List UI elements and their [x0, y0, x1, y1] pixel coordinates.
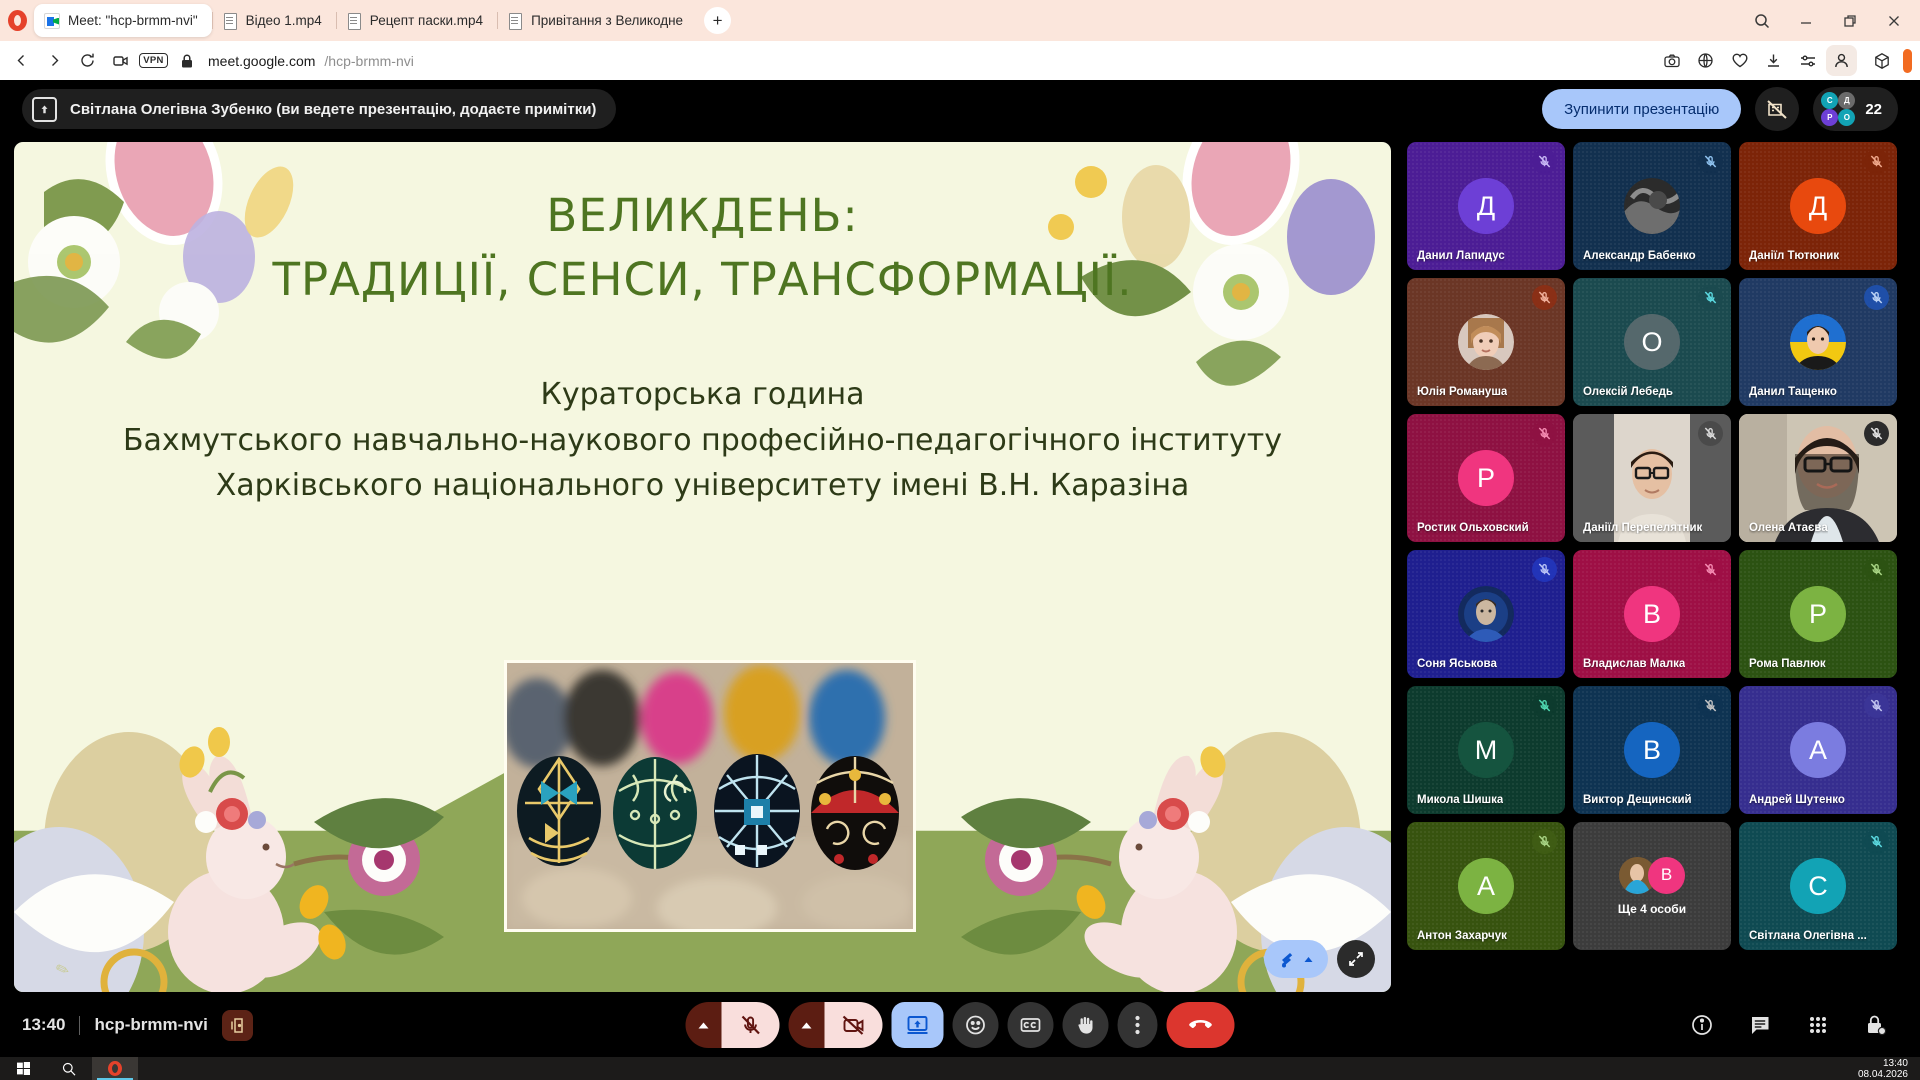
clock-date: 08.04.2026: [1858, 1069, 1908, 1080]
browser-tabstrip: Meet: "hcp-brmm-nvi" Відео 1.mp4 Рецепт …: [0, 0, 1920, 41]
participant-name: Світлана Олегівна ...: [1749, 930, 1867, 942]
camera-control[interactable]: [789, 1002, 883, 1048]
lock-host-icon: [1864, 1013, 1888, 1037]
mic-off-icon: [1532, 557, 1557, 582]
slide-surface: ВЕЛИКДЕНЬ: ТРАДИЦІЇ, СЕНСИ, ТРАНСФОРМАЦІ…: [14, 142, 1391, 992]
mic-off-icon: [1698, 149, 1723, 174]
opera-sidebar: [1860, 45, 1912, 76]
avatar-initial: Р: [1458, 450, 1514, 506]
present-screen-button[interactable]: [892, 1002, 944, 1048]
present-screen-icon: [906, 1013, 930, 1037]
tab-label: Рецепт паски.mp4: [370, 13, 483, 28]
mic-off-icon: [1698, 421, 1723, 446]
participant-name: Соня Яськова: [1417, 658, 1497, 670]
end-call-icon: [1187, 1011, 1215, 1039]
exit-door-icon[interactable]: [222, 1010, 253, 1041]
participant-name: Владислав Малка: [1583, 658, 1685, 670]
avatar-initial: С: [1790, 858, 1846, 914]
mic-off-icon: [740, 1014, 762, 1036]
browser-tab-0[interactable]: Meet: "hcp-brmm-nvi": [34, 4, 212, 37]
annotate-pen-button[interactable]: [1264, 940, 1328, 978]
participant-tile[interactable]: Александр Бабенко: [1573, 142, 1731, 270]
participant-tile[interactable]: Даніїл Перепелятник: [1573, 414, 1731, 542]
avatar-initial: А: [1458, 858, 1514, 914]
participant-name: Виктор Дещинский: [1583, 794, 1692, 806]
slide-subtitle: Кураторська година Бахмутського навчальн…: [14, 372, 1391, 509]
video-popout-icon[interactable]: [105, 45, 136, 76]
avatar: [1458, 314, 1514, 370]
snapshot-icon[interactable]: [1656, 45, 1687, 76]
avatar: В: [1648, 857, 1685, 894]
presenting-banner: Світлана Олегівна Зубенко (ви ведете пре…: [22, 89, 616, 129]
avatar-initial: О: [1624, 314, 1680, 370]
meet-bottom-bar: 13:40 hcp-brmm-nvi: [0, 993, 1920, 1057]
host-controls-button[interactable]: [1854, 1003, 1898, 1047]
cube-icon[interactable]: [1866, 45, 1897, 76]
chat-button[interactable]: [1738, 1003, 1782, 1047]
participant-name: Данил Тащенко: [1749, 386, 1837, 398]
tab-label: Meet: "hcp-brmm-nvi": [68, 13, 198, 28]
participant-name: Данил Лапидус: [1417, 250, 1505, 262]
meet-controls: [686, 1002, 1235, 1048]
close-button[interactable]: [1872, 0, 1916, 41]
participant-name: Микола Шишка: [1417, 794, 1503, 806]
participant-name: Олена Атаєва: [1749, 522, 1828, 534]
opera-logo-icon: [0, 0, 34, 41]
document-favicon: [346, 13, 362, 29]
new-tab-button[interactable]: +: [704, 7, 731, 34]
emoji-smile-icon: [964, 1013, 988, 1037]
profile-icon[interactable]: [1826, 45, 1857, 76]
presentation-stage[interactable]: ВЕЛИКДЕНЬ: ТРАДИЦІЇ, СЕНСИ, ТРАНСФОРМАЦІ…: [14, 142, 1391, 992]
url-path: /hcp-brmm-nvi: [324, 53, 413, 69]
opera-sidebar-accent: [1903, 49, 1912, 73]
mic-off-icon: [1864, 285, 1889, 310]
mic-off-icon: [1864, 693, 1889, 718]
participant-tile[interactable]: ССвітлана Олегівна ...: [1739, 822, 1897, 950]
tab-label: Привітання з Великодне: [531, 13, 683, 28]
avatar-initial: А: [1790, 722, 1846, 778]
meeting-code: hcp-brmm-nvi: [94, 1015, 207, 1035]
participant-name: Андрей Шутенко: [1749, 794, 1845, 806]
mic-off-icon: [1532, 829, 1557, 854]
participant-count: 22: [1865, 101, 1882, 118]
chevron-up-icon: [800, 1018, 814, 1032]
stop-presentation-button[interactable]: Зупинити презентацію: [1542, 89, 1741, 129]
participant-name: Юлія Романуша: [1417, 386, 1507, 398]
url-host: meet.google.com: [208, 53, 315, 69]
mic-off-icon: [1698, 557, 1723, 582]
tab-label: Відео 1.mp4: [246, 13, 322, 28]
participant-name: Ростик Ольховский: [1417, 522, 1529, 534]
participant-name: Антон Захарчук: [1417, 930, 1507, 942]
browser-navbar: VPN meet.google.com/hcp-brmm-nvi: [0, 41, 1920, 80]
avatar: [1458, 586, 1514, 642]
slide-floating-controls: [1264, 940, 1375, 978]
mic-off-icon: [1532, 693, 1557, 718]
divider: [79, 1016, 80, 1035]
mic-off-icon: [1698, 693, 1723, 718]
avatar-cluster: С Д Р О: [1821, 92, 1855, 126]
more-vertical-icon: [1135, 1014, 1141, 1036]
participant-tile[interactable]: Соня Яськова: [1407, 550, 1565, 678]
mic-off-icon: [1532, 285, 1557, 310]
annotate-pen-icon: [1279, 949, 1299, 969]
slide-title-line2: ТРАДИЦІЇ, СЕНСИ, ТРАНСФОРМАЦІЇ.: [14, 248, 1391, 312]
more-options-button[interactable]: [1118, 1002, 1158, 1048]
camera-toggle-button[interactable]: [825, 1002, 883, 1048]
avatar-initial: В: [1624, 722, 1680, 778]
address-bar[interactable]: meet.google.com/hcp-brmm-nvi: [208, 53, 414, 69]
participant-tile[interactable]: ААнтон Захарчук: [1407, 822, 1565, 950]
cast-off-icon[interactable]: [1755, 87, 1799, 131]
windows-taskbar: 13:40 08.04.2026: [0, 1057, 1920, 1080]
slide-title: ВЕЛИКДЕНЬ: ТРАДИЦІЇ, СЕНСИ, ТРАНСФОРМАЦІ…: [14, 184, 1391, 312]
mic-off-icon: [1532, 421, 1557, 446]
participant-name: Даніїл Перепелятник: [1583, 522, 1702, 534]
info-icon: [1690, 1013, 1714, 1037]
browser-tab-1[interactable]: Відео 1.mp4: [212, 4, 336, 37]
participant-tile[interactable]: В Ще 4 особи: [1573, 822, 1731, 950]
tab-search-icon[interactable]: [1740, 0, 1784, 41]
participant-tile[interactable]: Юлія Романуша: [1407, 278, 1565, 406]
avatar: [1790, 314, 1846, 370]
activities-button[interactable]: [1796, 1003, 1840, 1047]
captions-button[interactable]: [1008, 1002, 1054, 1048]
minimize-button[interactable]: [1784, 0, 1828, 41]
avatar-initial: М: [1458, 722, 1514, 778]
participant-tile[interactable]: ДДанил Лапидус: [1407, 142, 1565, 270]
meeting-details-button[interactable]: [1680, 1003, 1724, 1047]
more-participants-label: Ще 4 особи: [1618, 902, 1686, 916]
participant-tile[interactable]: РРома Павлюк: [1739, 550, 1897, 678]
browser-tab-3[interactable]: Привітання з Великодне: [497, 4, 697, 37]
window-controls: [1740, 0, 1920, 41]
mic-off-icon: [1864, 557, 1889, 582]
slide-subtitle-line3: Харківського національного університету …: [14, 463, 1391, 509]
avatar: [1624, 178, 1680, 234]
participant-tile[interactable]: ММикола Шишка: [1407, 686, 1565, 814]
back-icon[interactable]: [6, 45, 37, 76]
slide-subtitle-line2: Бахмутського навчально-наукового професі…: [14, 418, 1391, 464]
microphone-control[interactable]: [686, 1002, 780, 1048]
slide-subtitle-line1: Кураторська година: [14, 372, 1391, 418]
camera-options-button[interactable]: [789, 1002, 825, 1048]
raise-hand-icon: [1074, 1013, 1098, 1037]
apps-grid-icon: [1806, 1013, 1830, 1037]
participant-tile[interactable]: ДДаніїл Тютюник: [1739, 142, 1897, 270]
mic-off-icon: [1698, 285, 1723, 310]
participant-name: Александр Бабенко: [1583, 250, 1696, 262]
raise-hand-button[interactable]: [1063, 1002, 1109, 1048]
download-icon[interactable]: [1758, 45, 1789, 76]
end-call-button[interactable]: [1167, 1002, 1235, 1048]
settings-sliders-icon[interactable]: [1792, 45, 1823, 76]
participant-name: Олексій Лебедь: [1583, 386, 1673, 398]
document-favicon: [507, 13, 523, 29]
mic-off-icon: [1864, 421, 1889, 446]
slide-title-line1: ВЕЛИКДЕНЬ:: [14, 184, 1391, 248]
avatar-initial: Р: [1790, 586, 1846, 642]
closed-captions-icon: [1019, 1013, 1043, 1037]
avatar-initial: Д: [1790, 178, 1846, 234]
heart-icon[interactable]: [1724, 45, 1755, 76]
navbar-right-icons: [1656, 45, 1914, 76]
mic-off-icon: [1532, 149, 1557, 174]
meet-header: Світлана Олегівна Зубенко (ви ведете пре…: [0, 80, 1920, 138]
browser-tab-2[interactable]: Рецепт паски.mp4: [336, 4, 497, 37]
reload-icon[interactable]: [72, 45, 103, 76]
more-avatars: В: [1619, 857, 1685, 894]
participants-grid: ДДанил ЛапидусАлександр БабенкоДДаніїл Т…: [1407, 142, 1907, 950]
avatar-initial: Д: [1458, 178, 1514, 234]
chevron-up-icon: [1303, 954, 1314, 965]
google-meet-app: Світлана Олегівна Зубенко (ви ведете пре…: [0, 80, 1920, 1057]
meet-right-controls: [1680, 1003, 1898, 1047]
pysanky-photo: [504, 660, 916, 932]
windows-start-icon[interactable]: [0, 1057, 46, 1080]
expand-icon: [1347, 950, 1365, 968]
participant-name: Рома Павлюк: [1749, 658, 1826, 670]
chevron-up-icon: [697, 1018, 711, 1032]
maximize-button[interactable]: [1828, 0, 1872, 41]
search-icon[interactable]: [46, 1057, 92, 1080]
microphone-options-button[interactable]: [686, 1002, 722, 1048]
participant-tile[interactable]: Олена Атаєва: [1739, 414, 1897, 542]
participant-tile[interactable]: ААндрей Шутенко: [1739, 686, 1897, 814]
participant-tile[interactable]: ВВиктор Дещинский: [1573, 686, 1731, 814]
translate-icon[interactable]: [1690, 45, 1721, 76]
participant-tile[interactable]: Данил Тащенко: [1739, 278, 1897, 406]
clock-time: 13:40: [1858, 1058, 1908, 1069]
document-favicon: [222, 13, 238, 29]
fullscreen-button[interactable]: [1337, 940, 1375, 978]
lock-icon[interactable]: [171, 45, 202, 76]
mic-off-icon: [1864, 829, 1889, 854]
avatar-initial: В: [1624, 586, 1680, 642]
present-box-icon: [32, 97, 57, 122]
meet-header-right: Зупинити презентацію С Д Р О 22: [1542, 87, 1898, 131]
vpn-badge[interactable]: VPN: [138, 45, 169, 76]
meet-favicon: [44, 13, 60, 29]
microphone-toggle-button[interactable]: [722, 1002, 780, 1048]
participant-tile[interactable]: ВВладислав Малка: [1573, 550, 1731, 678]
mic-off-icon: [1864, 149, 1889, 174]
participant-count-chip[interactable]: С Д Р О 22: [1813, 87, 1898, 131]
opera-icon[interactable]: [92, 1057, 138, 1080]
chat-icon: [1748, 1013, 1772, 1037]
taskbar-clock[interactable]: 13:40 08.04.2026: [1858, 1058, 1920, 1080]
meeting-info: 13:40 hcp-brmm-nvi: [22, 1010, 253, 1041]
participant-name: Даніїл Тютюник: [1749, 250, 1839, 262]
reaction-button[interactable]: [953, 1002, 999, 1048]
camera-off-icon: [842, 1014, 866, 1036]
forward-icon[interactable]: [39, 45, 70, 76]
presenting-text: Світлана Олегівна Зубенко (ви ведете пре…: [70, 101, 596, 118]
participant-tile[interactable]: РРостик Ольховский: [1407, 414, 1565, 542]
meeting-time: 13:40: [22, 1015, 65, 1035]
participant-tile[interactable]: ООлексій Лебедь: [1573, 278, 1731, 406]
